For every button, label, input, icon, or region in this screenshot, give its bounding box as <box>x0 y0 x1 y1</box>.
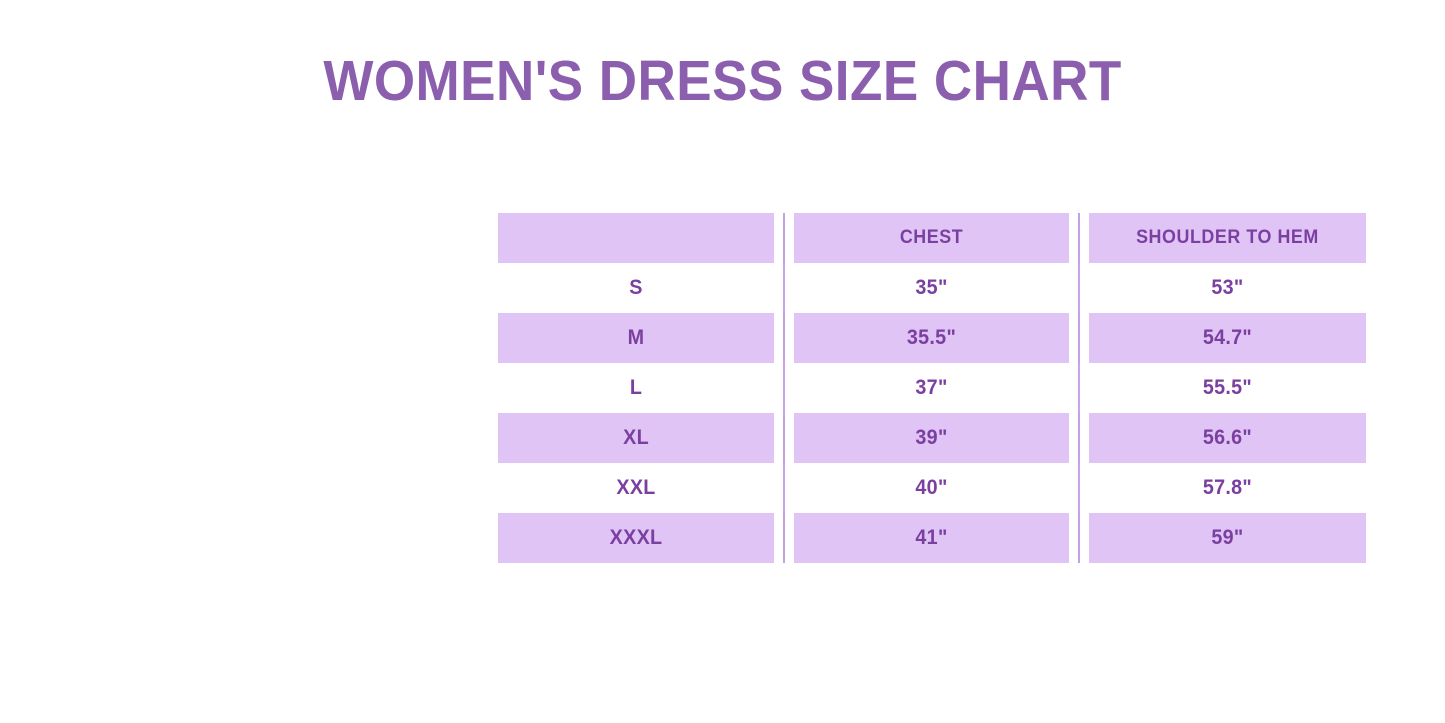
cell-shoulder-to-hem: 57.8" <box>1088 463 1366 513</box>
table-header: CHEST SHOULDER TO HEM <box>489 213 1375 263</box>
table-row: XL 39" 56.6" <box>489 413 1375 463</box>
cell-shoulder-to-hem: 56.6" <box>1088 413 1366 463</box>
size-chart-table: CHEST SHOULDER TO HEM S 35" 53" M 35.5" … <box>489 213 1375 563</box>
cell-chest: 39" <box>793 413 1070 463</box>
table-row: XXL 40" 57.8" <box>489 463 1375 513</box>
cell-size: M <box>498 313 775 363</box>
size-chart-page: WOMEN'S DRESS SIZE CHART CHEST SHOULDER … <box>0 0 1445 723</box>
table-row: S 35" 53" <box>489 263 1375 313</box>
column-header-chest: CHEST <box>793 213 1070 263</box>
cell-size: XXXL <box>498 513 775 563</box>
page-title: WOMEN'S DRESS SIZE CHART <box>51 52 1395 112</box>
cell-size: XL <box>498 413 775 463</box>
cell-shoulder-to-hem: 55.5" <box>1088 363 1366 413</box>
table-body: S 35" 53" M 35.5" 54.7" L 37" 55.5" XL 3… <box>489 263 1375 563</box>
column-header-size <box>498 213 775 263</box>
cell-chest: 40" <box>793 463 1070 513</box>
cell-size: L <box>498 363 775 413</box>
cell-shoulder-to-hem: 53" <box>1088 263 1366 313</box>
cell-size: XXL <box>498 463 775 513</box>
cell-chest: 35" <box>793 263 1070 313</box>
table-row: L 37" 55.5" <box>489 363 1375 413</box>
cell-chest: 37" <box>793 363 1070 413</box>
table-row: M 35.5" 54.7" <box>489 313 1375 363</box>
table-header-row: CHEST SHOULDER TO HEM <box>489 213 1375 263</box>
cell-shoulder-to-hem: 54.7" <box>1088 313 1366 363</box>
cell-size: S <box>498 263 775 313</box>
column-header-shoulder-to-hem: SHOULDER TO HEM <box>1088 213 1366 263</box>
cell-chest: 35.5" <box>793 313 1070 363</box>
cell-chest: 41" <box>793 513 1070 563</box>
cell-shoulder-to-hem: 59" <box>1088 513 1366 563</box>
table-row: XXXL 41" 59" <box>489 513 1375 563</box>
